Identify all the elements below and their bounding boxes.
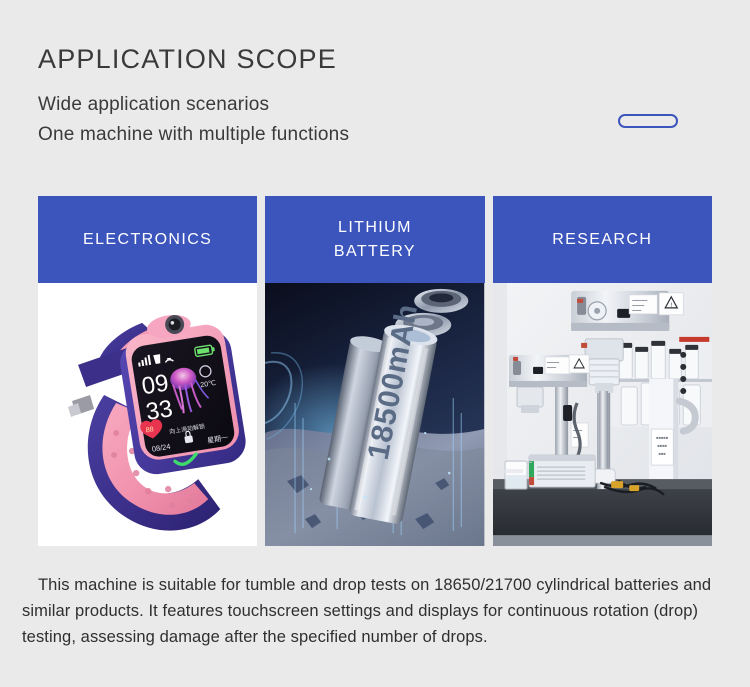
svg-text:▬▬▬▬▬: ▬▬▬▬▬ [632,298,647,302]
subtitle-line-2: One machine with multiple functions [38,120,712,150]
application-scope-section: APPLICATION SCOPE Wide application scena… [0,0,750,687]
card-label-electronics: ELECTRONICS [83,228,212,252]
card-header-lithium-battery: LITHIUM BATTERY [265,196,484,283]
svg-text:88: 88 [145,426,154,434]
subtitle-block: Wide application scenarios One machine w… [38,90,712,150]
card-header-research: RESEARCH [493,196,712,283]
scope-card-lithium-battery[interactable]: LITHIUM BATTERY [265,196,484,546]
stirrer-shaft-main [599,391,608,475]
card-label-research: RESEARCH [552,228,652,252]
card-image-lab: ■■■■■ ■■■■ ■■■ [493,283,712,546]
svg-text:▬▬▬: ▬▬▬ [632,308,641,312]
lithium-cell-illustration: 18500mAh [265,283,484,546]
scope-card-electronics[interactable]: ELECTRONICS [38,196,257,546]
pill-decoration-icon [618,114,678,128]
svg-text:■■■: ■■■ [658,451,666,456]
card-image-smartwatch: 09 33 20℃ [38,283,257,546]
page-title: APPLICATION SCOPE [38,42,712,76]
subtitle-line-1: Wide application scenarios [38,90,712,120]
svg-text:■■■■: ■■■■ [657,443,667,448]
card-header-electronics: ELECTRONICS [38,196,257,283]
scope-card-research[interactable]: RESEARCH [493,196,712,546]
card-label-lithium-line2: BATTERY [334,240,416,264]
laboratory-illustration: ■■■■■ ■■■■ ■■■ [493,283,712,546]
svg-text:▬▬▬: ▬▬▬ [547,365,556,369]
card-image-battery: 18500mAh [265,283,484,546]
smartwatch-illustration: 09 33 20℃ [38,283,257,546]
card-label-lithium-line1: LITHIUM [334,216,416,240]
svg-text:■■■■■: ■■■■■ [656,435,669,440]
section-header: APPLICATION SCOPE Wide application scena… [38,42,712,150]
description-paragraph: This machine is suitable for tumble and … [22,572,728,650]
svg-text:▬▬▬▬: ▬▬▬▬ [547,360,559,364]
scope-card-list: ELECTRONICS [38,196,712,546]
svg-text:▬▬▬▬: ▬▬▬▬ [632,303,644,307]
